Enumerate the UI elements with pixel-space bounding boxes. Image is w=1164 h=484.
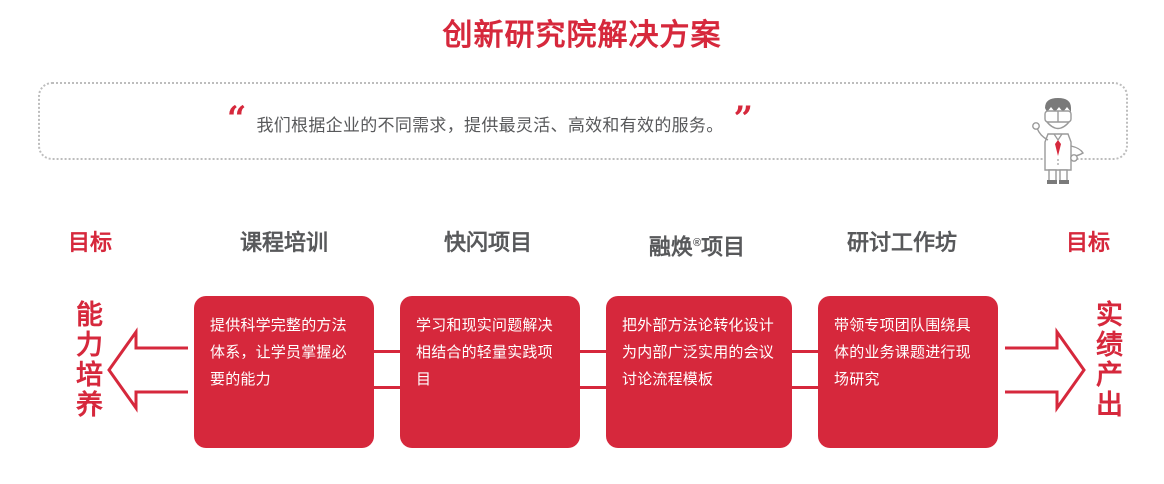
column-header-ronghuan-project: 融焕®项目 <box>604 228 790 258</box>
column-header-goal-right: 目标 <box>1042 228 1134 258</box>
column-header-course-training: 课程培训 <box>194 228 374 258</box>
page-title: 创新研究院解决方案 <box>0 16 1164 56</box>
connector-2-3-upper <box>578 350 606 353</box>
connector-1-2-lower <box>374 386 400 389</box>
quote-text: 我们根据企业的不同需求，提供最灵活、高效和有效的服务。 <box>256 111 723 136</box>
quote-banner: “ 我们根据企业的不同需求，提供最灵活、高效和有效的服务。 ” <box>38 82 1128 160</box>
businessman-figure-icon <box>1018 90 1098 190</box>
column-header-flash-project: 快闪项目 <box>398 228 578 258</box>
ronghuan-tail: 项目 <box>701 234 745 259</box>
connector-3-4-lower <box>790 386 818 389</box>
column-header-workshop: 研讨工作坊 <box>812 228 992 258</box>
ronghuan-label: 融焕 <box>649 234 693 259</box>
connector-2-3-lower <box>578 386 606 389</box>
quote-row: “ 我们根据企业的不同需求，提供最灵活、高效和有效的服务。 ” <box>40 84 940 162</box>
quote-open-icon: “ <box>227 102 247 136</box>
flow-box-course-training[interactable]: 提供科学完整的方法体系，让学员掌握必要的能力 <box>194 296 374 448</box>
column-header-goal-left: 目标 <box>44 228 136 258</box>
registered-mark-icon: ® <box>693 237 701 249</box>
flow-box-workshop[interactable]: 带领专项团队围绕具体的业务课题进行现场研究 <box>818 296 998 448</box>
arrow-right-icon <box>1003 322 1087 423</box>
flow-box-flash-project[interactable]: 学习和现实问题解决相结合的轻量实践项目 <box>400 296 580 448</box>
right-goal-vertical-label: 实绩产出 <box>1090 300 1124 420</box>
flow-box-ronghuan-project[interactable]: 把外部方法论转化设计为内部广泛实用的会议讨论流程模板 <box>606 296 792 448</box>
arrow-left-icon <box>106 322 190 423</box>
quote-close-icon: ” <box>734 102 754 136</box>
left-goal-vertical-label: 能力培养 <box>70 300 104 420</box>
connector-3-4-upper <box>790 350 818 353</box>
connector-1-2-upper <box>374 350 400 353</box>
